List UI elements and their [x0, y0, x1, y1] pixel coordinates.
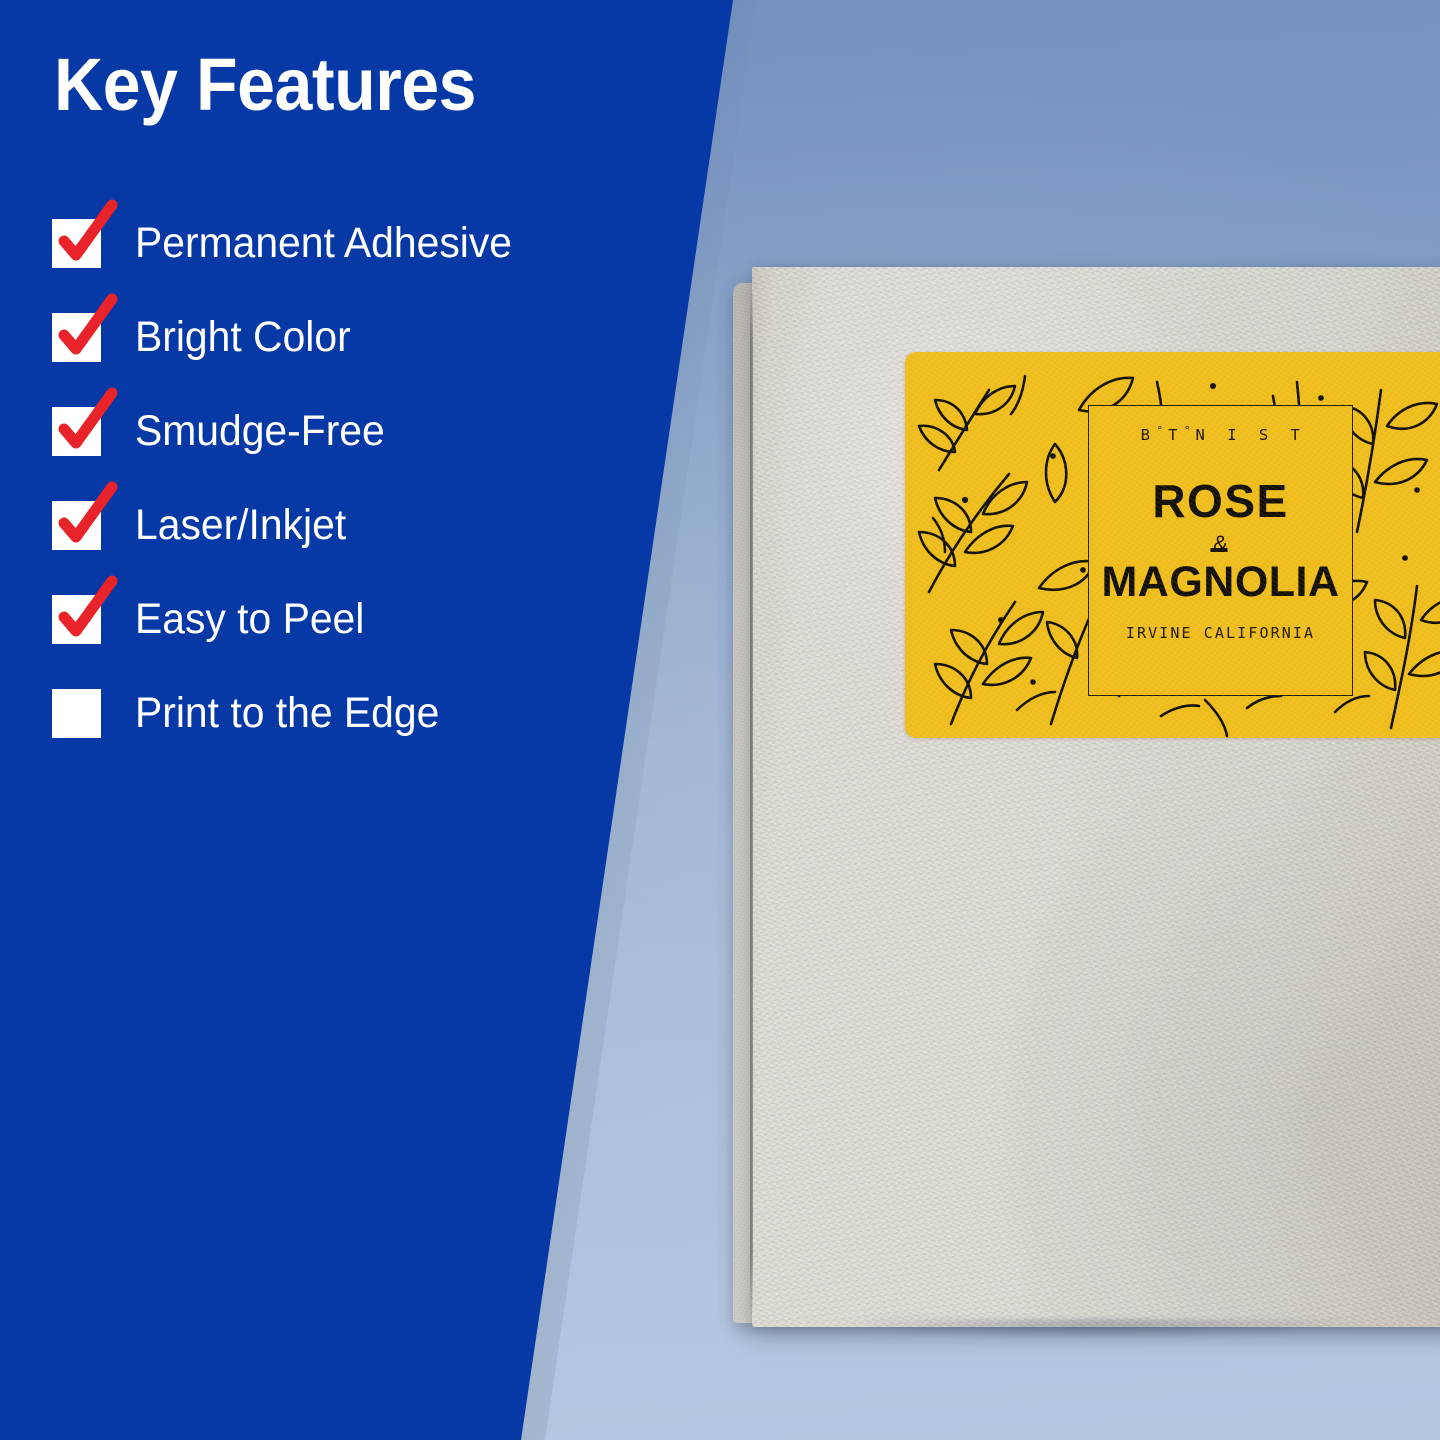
checkbox-smudge-free[interactable] [52, 407, 101, 456]
label-line2-wrap: MAGNOLIA [1101, 561, 1339, 604]
feature-label: Bright Color [135, 316, 351, 359]
feature-label: Smudge-Free [135, 410, 385, 453]
check-icon [50, 575, 122, 647]
label-ampersand: & [1213, 533, 1228, 555]
feature-item: Print to the Edge [52, 683, 712, 743]
feature-label: Laser/Inkjet [135, 504, 346, 547]
feature-label: Permanent Adhesive [135, 222, 512, 265]
checkbox-laser-inkjet[interactable] [52, 501, 101, 550]
feature-item: Smudge-Free [52, 401, 712, 461]
feature-panel-content: Key Features Permanent Adhesive [0, 0, 760, 1440]
feature-item: Laser/Inkjet [52, 495, 712, 555]
feature-item: Easy to Peel [52, 589, 712, 649]
box-drop-shadow [730, 1320, 1440, 1346]
macron-mark [1211, 548, 1228, 552]
checkbox-print-to-the-edge[interactable] [52, 689, 101, 738]
feature-item: Bright Color [52, 307, 712, 367]
feature-list: Permanent Adhesive Bright Color [52, 213, 712, 743]
check-icon [50, 481, 122, 553]
feature-label: Print to the Edge [135, 692, 439, 735]
checkbox-easy-to-peel[interactable] [52, 595, 101, 644]
feature-label: Easy to Peel [135, 598, 364, 641]
check-icon [50, 293, 122, 365]
label-line2: MAGNOLIA [1101, 558, 1339, 606]
label-city: IRVINE CALIFORNIA [1126, 624, 1315, 642]
check-icon [50, 387, 122, 459]
page-title: Key Features [54, 48, 476, 122]
checkbox-permanent-adhesive[interactable] [52, 219, 101, 268]
label-inner-card: B°T°N I S T ROSE & MAGNOLIA IRVINE CALIF… [1088, 405, 1353, 696]
label-brand: B°T°N I S T [1135, 424, 1307, 444]
product-label: B°T°N I S T ROSE & MAGNOLIA IRVINE CALIF… [905, 352, 1440, 738]
product-marketing-image: B°T°N I S T ROSE & MAGNOLIA IRVINE CALIF… [0, 0, 1440, 1440]
check-icon [50, 199, 122, 271]
feature-item: Permanent Adhesive [52, 213, 712, 273]
checkbox-bright-color[interactable] [52, 313, 101, 362]
label-line1: ROSE [1152, 478, 1288, 524]
